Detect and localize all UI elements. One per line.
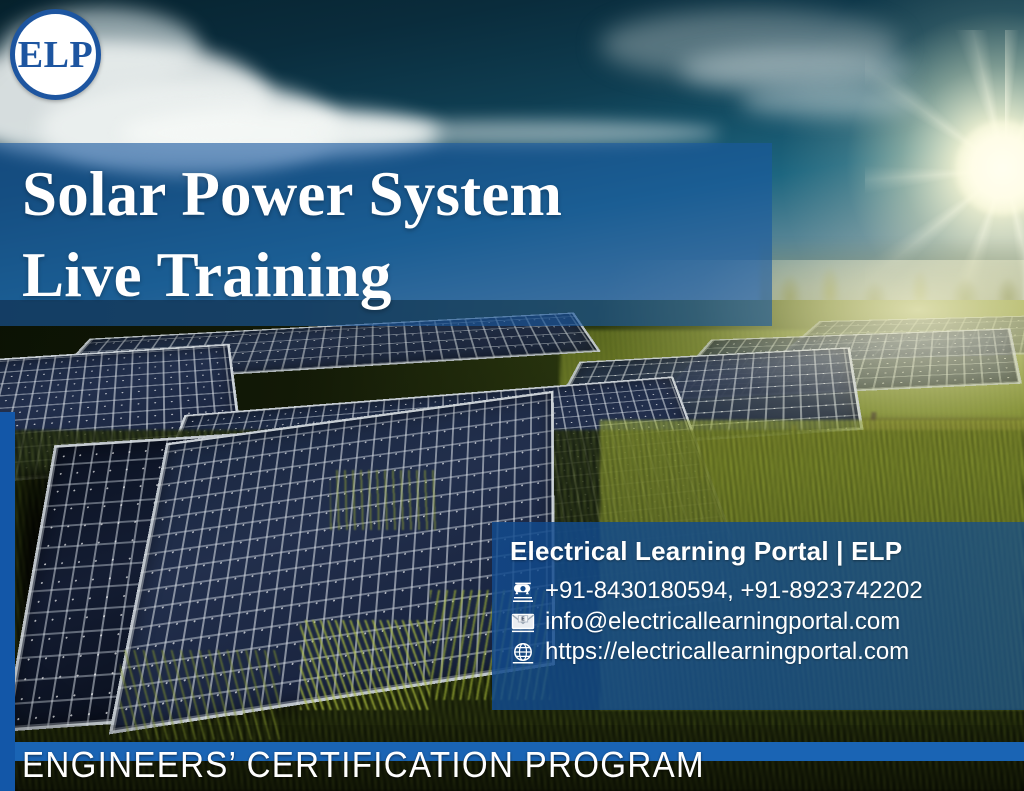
website-url: https://electricallearningportal.com <box>545 637 909 668</box>
svg-text:E: E <box>521 617 525 623</box>
phone-number: +91-8430180594, +91-8923742202 <box>545 576 923 607</box>
email-address: info@electricallearningportal.com <box>545 607 900 638</box>
globe-icon <box>510 640 536 666</box>
envelope-icon: E <box>510 609 536 635</box>
page-title-line-2: Live Training <box>22 243 772 307</box>
grass-tuft <box>330 470 440 530</box>
contact-panel: Electrical Learning Portal | ELP +91-843… <box>492 522 1024 710</box>
grass-tuft <box>300 620 430 710</box>
contact-email-row[interactable]: E info@electricallearningportal.com <box>510 607 1024 638</box>
footer-tagline: ENGINEERS’ CERTIFICATION PROGRAM <box>22 744 705 786</box>
page-title-line-1: Solar Power System <box>22 162 772 226</box>
title-banner: Solar Power System Live Training <box>0 143 772 326</box>
elp-monogram-icon: ELP <box>18 36 93 74</box>
elp-logo[interactable]: ELP <box>10 9 101 100</box>
organization-name: Electrical Learning Portal | ELP <box>510 536 1024 567</box>
telephone-icon <box>510 578 536 604</box>
contact-phone-row[interactable]: +91-8430180594, +91-8923742202 <box>510 576 1024 607</box>
left-accent-rail <box>0 412 15 791</box>
poster-canvas: ELP Solar Power System Live Training Ele… <box>0 0 1024 791</box>
contact-website-row[interactable]: https://electricallearningportal.com <box>510 637 1024 668</box>
